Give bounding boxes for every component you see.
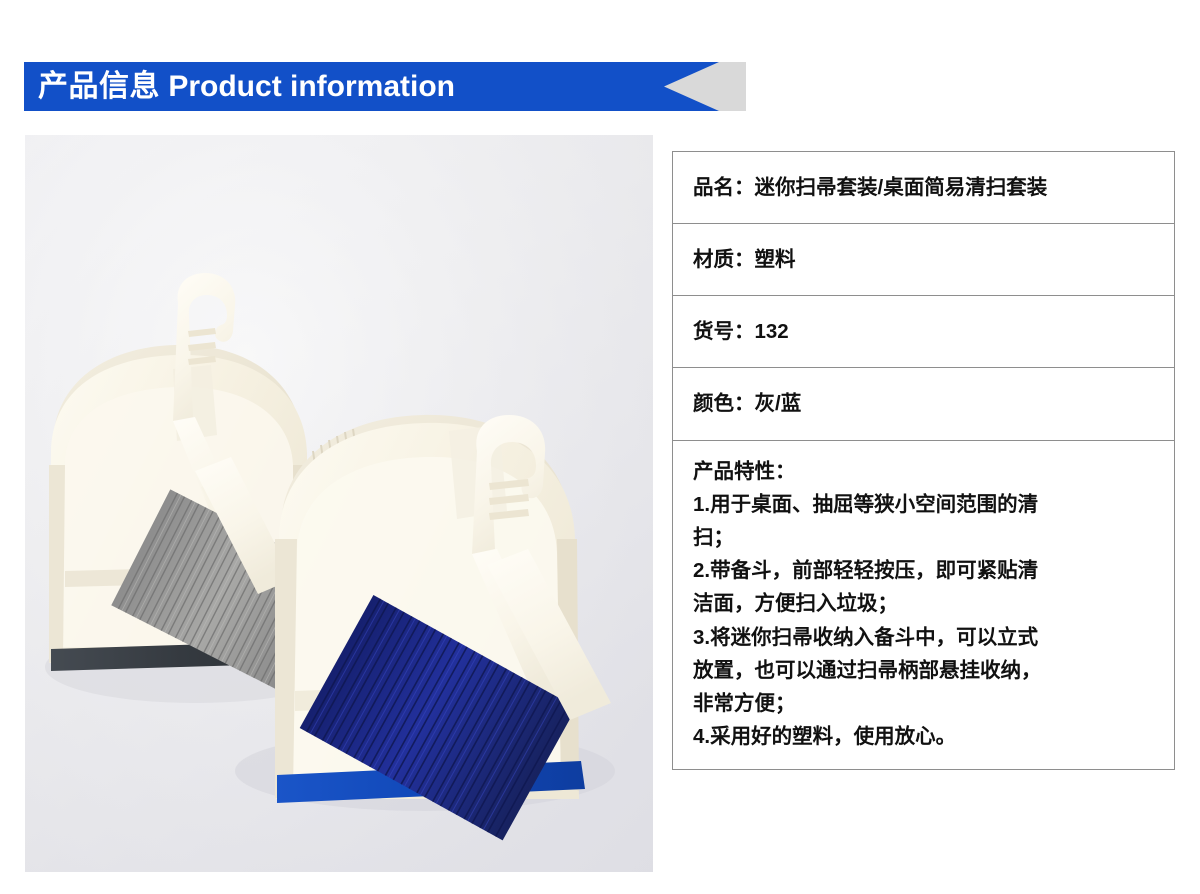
- features-title: 产品特性：: [693, 455, 1160, 488]
- section-header-banner: 产品信息 Product information: [24, 62, 746, 111]
- features-line-6: 放置，也可以通过扫帚柄部悬挂收纳，: [693, 654, 1160, 687]
- product-spec-table: 品名：迷你扫帚套装/桌面简易清扫套装 材质：塑料 货号：132 颜色：灰/蓝 产…: [672, 151, 1175, 770]
- spec-row-item-number: 货号：132: [673, 296, 1174, 368]
- features-line-4: 洁面，方便扫入垃圾；: [693, 587, 1160, 620]
- spec-row-features: 产品特性： 1.用于桌面、抽屈等狭小空间范围的清 扫； 2.带备斗，前部轻轻按压…: [673, 441, 1174, 771]
- spec-row-material: 材质：塑料: [673, 224, 1174, 296]
- banner-blue-ribbon: 产品信息 Product information: [24, 62, 719, 111]
- features-line-7: 非常方便；: [693, 687, 1160, 720]
- product-photo-illustration: [25, 135, 653, 872]
- spec-row-product-name: 品名：迷你扫帚套装/桌面简易清扫套装: [673, 152, 1174, 224]
- page-title: 产品信息 Product information: [24, 72, 455, 102]
- features-line-1: 1.用于桌面、抽屈等狭小空间范围的清: [693, 488, 1160, 521]
- features-line-8: 4.采用好的塑料，使用放心。: [693, 720, 1160, 753]
- features-line-2: 扫；: [693, 521, 1160, 554]
- page-title-cn: 产品信息: [38, 70, 160, 103]
- product-photo: [25, 135, 653, 872]
- page-title-en: Product information: [160, 70, 455, 103]
- spec-row-color: 颜色：灰/蓝: [673, 368, 1174, 440]
- features-line-5: 3.将迷你扫帚收纳入备斗中，可以立式: [693, 621, 1160, 654]
- features-line-3: 2.带备斗，前部轻轻按压，即可紧贴清: [693, 554, 1160, 587]
